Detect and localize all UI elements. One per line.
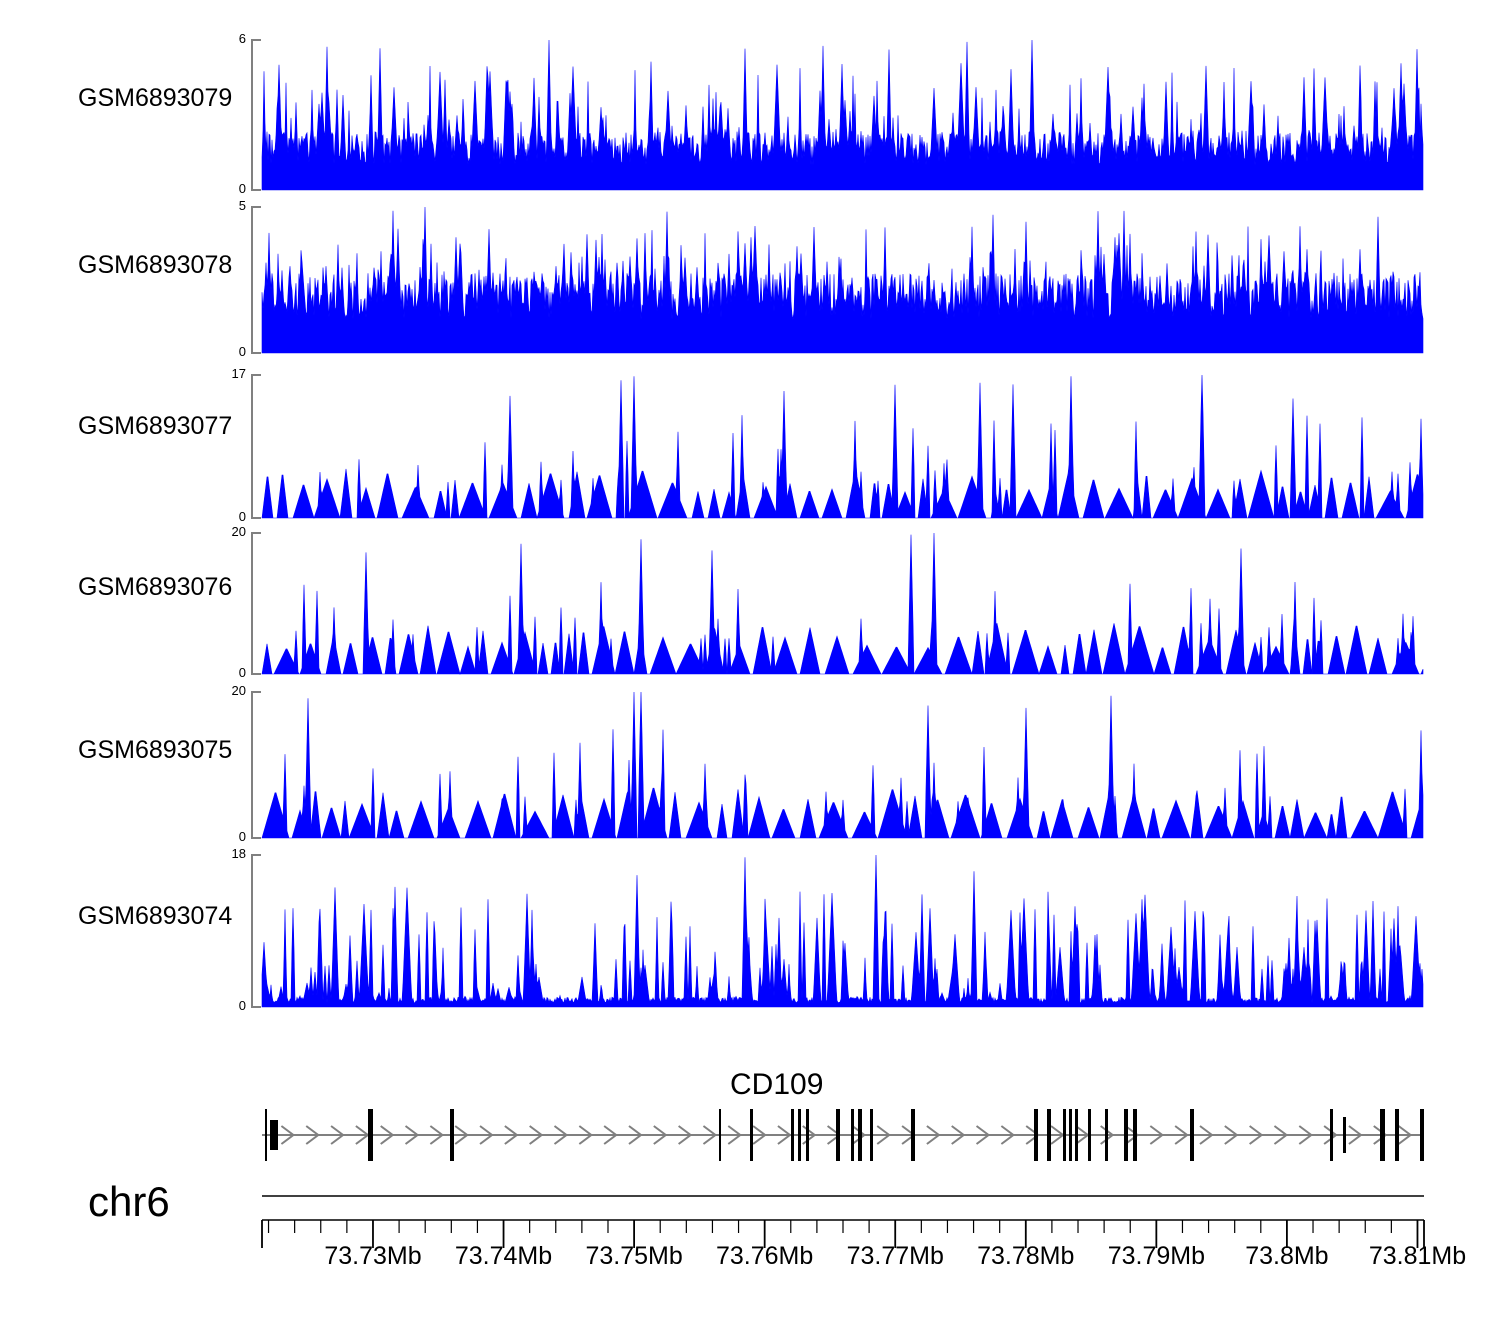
coverage-profile-svg <box>0 685 1500 845</box>
exon-block <box>911 1109 915 1161</box>
y-axis-bracket <box>252 375 261 518</box>
exon-block <box>1075 1109 1078 1161</box>
exon-block <box>836 1109 840 1161</box>
exon-block <box>719 1109 721 1161</box>
y-axis-bracket <box>252 692 261 838</box>
coverage-area <box>262 692 1423 838</box>
exon-block <box>1190 1109 1194 1161</box>
exon-block <box>1420 1109 1424 1161</box>
gene-model-svg <box>0 1060 1500 1190</box>
exon-block <box>851 1109 854 1161</box>
axis-tick-label: 73.81Mb <box>1337 1242 1497 1271</box>
exon-block <box>1063 1109 1066 1161</box>
exon-block <box>1395 1109 1399 1161</box>
exon-block <box>806 1109 809 1161</box>
coverage-profile-svg <box>0 33 1500 197</box>
gene-annotation-panel: CD109 <box>0 1060 1500 1190</box>
exon-block <box>1088 1109 1091 1161</box>
coverage-profile-svg <box>0 848 1500 1014</box>
coverage-area <box>262 40 1423 190</box>
coverage-area <box>262 533 1423 674</box>
coverage-area <box>262 375 1423 518</box>
exon-block <box>798 1109 801 1161</box>
exon-block <box>1343 1117 1346 1153</box>
exon-block <box>858 1109 862 1161</box>
exon-block <box>1133 1109 1137 1161</box>
exon-block <box>750 1109 753 1161</box>
exon-block <box>870 1109 873 1161</box>
coverage-profile-svg <box>0 200 1500 360</box>
exon-block <box>791 1109 794 1161</box>
exon-block <box>1330 1109 1333 1161</box>
exon-block <box>1069 1109 1072 1161</box>
exon-block <box>1034 1109 1038 1161</box>
exon-block <box>270 1120 278 1150</box>
y-axis-bracket <box>252 207 261 353</box>
exon-block <box>450 1109 454 1161</box>
y-axis-bracket <box>252 40 261 190</box>
exon-block <box>1105 1109 1108 1161</box>
coverage-area <box>262 207 1423 353</box>
genomic-axis-ruler: 73.73Mb73.74Mb73.75Mb73.76Mb73.77Mb73.78… <box>0 1190 1500 1310</box>
y-axis-bracket <box>252 855 261 1007</box>
exon-block <box>1380 1109 1385 1161</box>
coverage-area <box>262 855 1423 1007</box>
exon-block <box>1047 1109 1051 1161</box>
exon-block <box>1124 1109 1128 1161</box>
y-axis-bracket <box>252 533 261 674</box>
genome-browser-figure: GSM689307960GSM689307850GSM6893077170GSM… <box>0 0 1500 1320</box>
coverage-profile-svg <box>0 526 1500 681</box>
exon-block <box>265 1109 267 1161</box>
coverage-profile-svg <box>0 368 1500 525</box>
exon-block <box>368 1109 373 1161</box>
